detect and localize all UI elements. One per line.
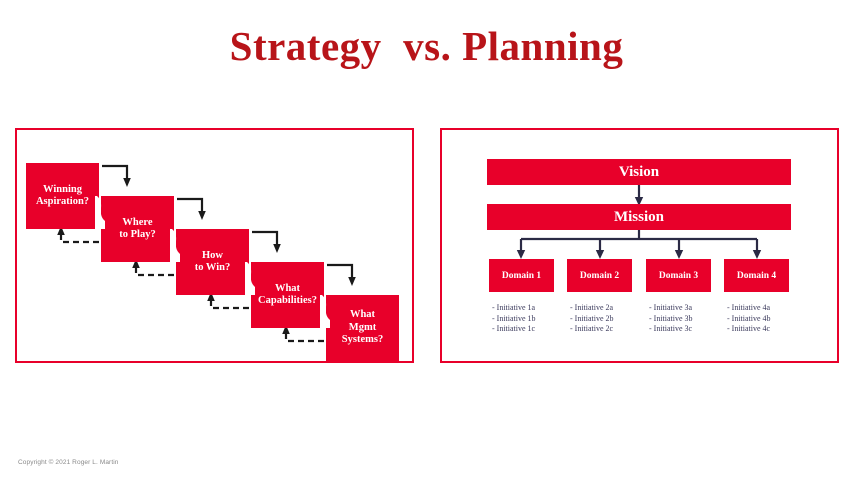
cascade-box-what-capabilities[interactable]: What Capabilities?	[251, 262, 324, 328]
cascade-box-label: Winning Aspiration?	[36, 184, 89, 209]
page-title: Strategy vs. Planning	[0, 22, 853, 70]
domain-box-1[interactable]: Domain 1	[489, 259, 554, 292]
domain-box-2[interactable]: Domain 2	[567, 259, 632, 292]
cascade-box-what-mgmt-systems[interactable]: What Mgmt Systems?	[326, 295, 399, 361]
mission-bar[interactable]: Mission	[487, 204, 791, 230]
initiative-list-4: - Initiative 4a - Initiative 4b - Initia…	[727, 303, 819, 335]
initiative-item: - Initiative 4c	[727, 324, 819, 335]
cascade-box-label: What Mgmt Systems?	[342, 309, 383, 347]
cascade-box-how-to-win[interactable]: How to Win?	[176, 229, 249, 295]
cascade-box-winning-aspiration[interactable]: Winning Aspiration?	[26, 163, 99, 229]
vision-bar[interactable]: Vision	[487, 159, 791, 185]
cascade-box-label: How to Win?	[195, 250, 231, 275]
cascade-box-label: Where to Play?	[119, 217, 155, 242]
domain-label: Domain 2	[580, 271, 619, 281]
domain-label: Domain 1	[502, 271, 541, 281]
domain-box-3[interactable]: Domain 3	[646, 259, 711, 292]
mission-label: Mission	[614, 209, 664, 226]
cascade-box-where-to-play[interactable]: Where to Play?	[101, 196, 174, 262]
vision-label: Vision	[619, 164, 659, 181]
copyright-notice: Copyright © 2021 Roger L. Martin	[18, 459, 118, 466]
strategy-cascade-panel: Winning Aspiration? Where to Play? How t…	[15, 128, 414, 363]
domain-label: Domain 4	[737, 271, 776, 281]
initiative-item: - Initiative 4b	[727, 314, 819, 325]
domain-box-4[interactable]: Domain 4	[724, 259, 789, 292]
initiative-item: - Initiative 4a	[727, 303, 819, 314]
domain-label: Domain 3	[659, 271, 698, 281]
cascade-box-label: What Capabilities?	[258, 283, 317, 308]
